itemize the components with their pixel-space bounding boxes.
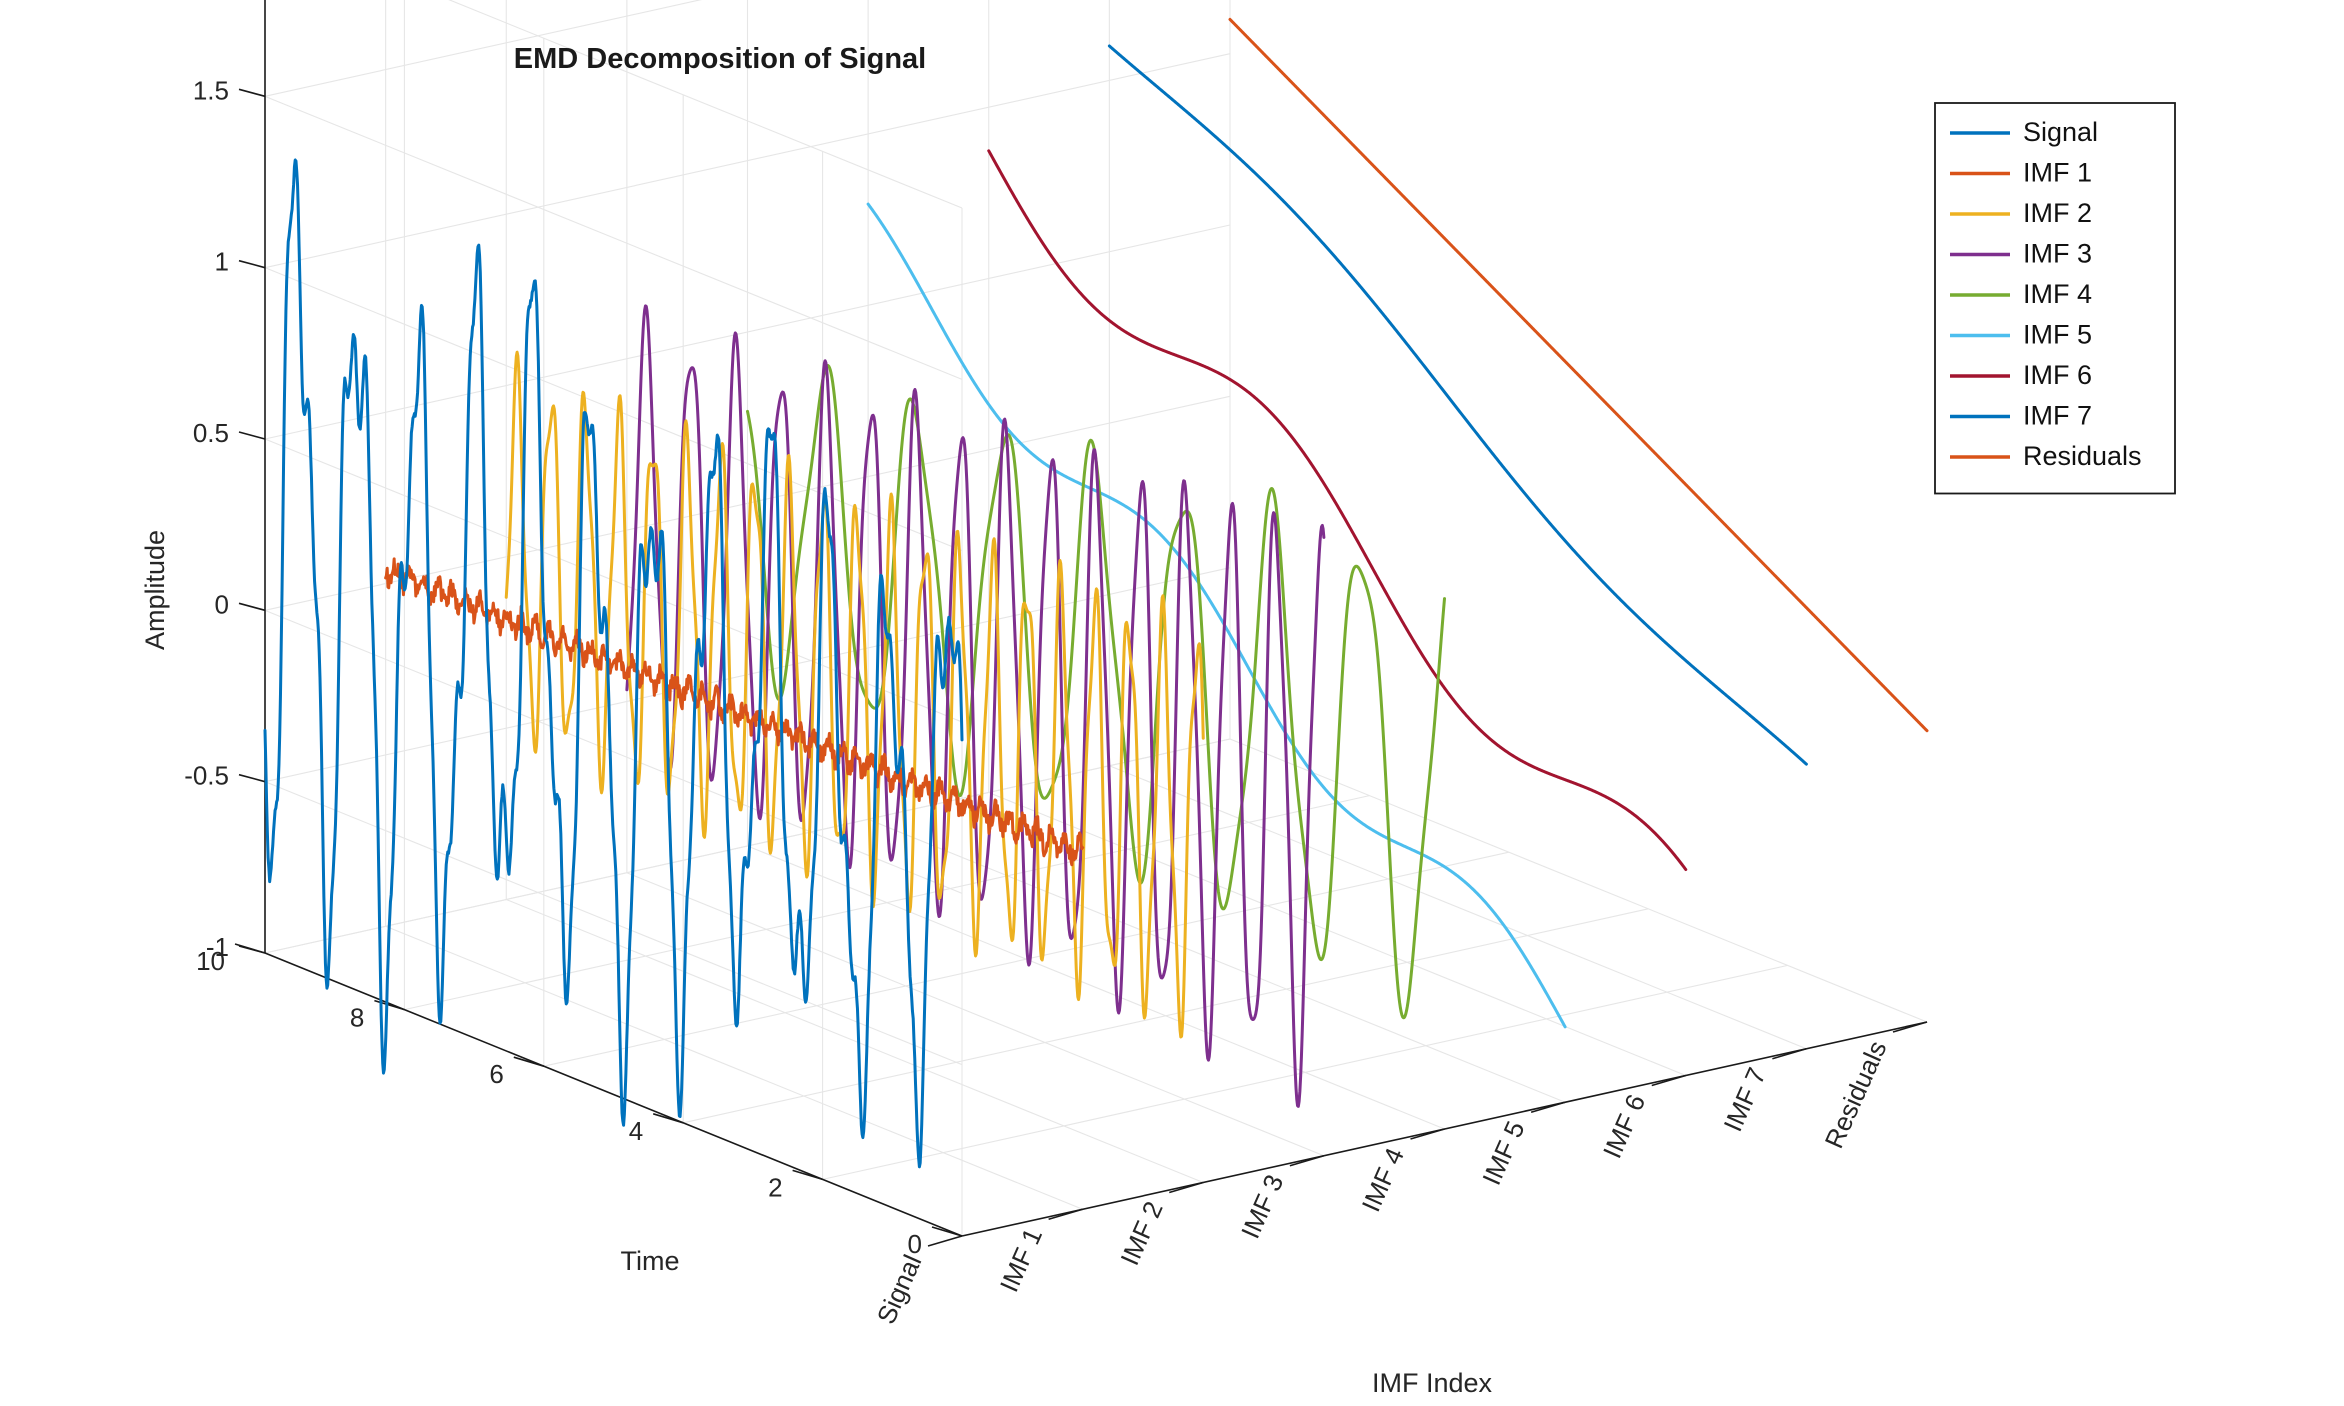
legend-label: IMF 3 [2023, 239, 2092, 269]
amplitude-axis-title: Amplitude [140, 530, 170, 650]
legend-label: IMF 7 [2023, 401, 2092, 431]
time-axis-title: Time [621, 1246, 680, 1276]
time-tick-label: 0 [908, 1229, 922, 1259]
z-tick-label: 1 [215, 247, 229, 277]
legend-label: IMF 4 [2023, 279, 2092, 309]
legend-label: Signal [2023, 117, 2098, 147]
legend-label: IMF 2 [2023, 198, 2092, 228]
legend[interactable]: SignalIMF 1IMF 2IMF 3IMF 4IMF 5IMF 6IMF … [1935, 103, 2175, 494]
z-tick-label: 0.5 [193, 418, 229, 448]
time-tick-label: 2 [768, 1172, 782, 1202]
time-tick-label: 10 [196, 946, 225, 976]
time-tick-label: 4 [629, 1116, 643, 1146]
page-title: EMD Decomposition of Signal [514, 43, 926, 75]
z-tick-label: -0.5 [184, 761, 229, 791]
legend-label: IMF 5 [2023, 320, 2092, 350]
legend-label: Residuals [2023, 441, 2142, 471]
legend-label: IMF 6 [2023, 360, 2092, 390]
time-tick-label: 6 [489, 1059, 503, 1089]
emd-3d-plot: 21.510.50-0.5-11086420SignalIMF 1IMF 2IM… [0, 0, 2344, 1406]
z-tick-label: 0 [215, 589, 229, 619]
imf-index-axis-title: IMF Index [1372, 1368, 1493, 1398]
z-tick-label: 1.5 [193, 75, 229, 105]
time-tick-label: 8 [350, 1003, 364, 1033]
legend-label: IMF 1 [2023, 158, 2092, 188]
figure-canvas: 21.510.50-0.5-11086420SignalIMF 1IMF 2IM… [0, 0, 2344, 1406]
